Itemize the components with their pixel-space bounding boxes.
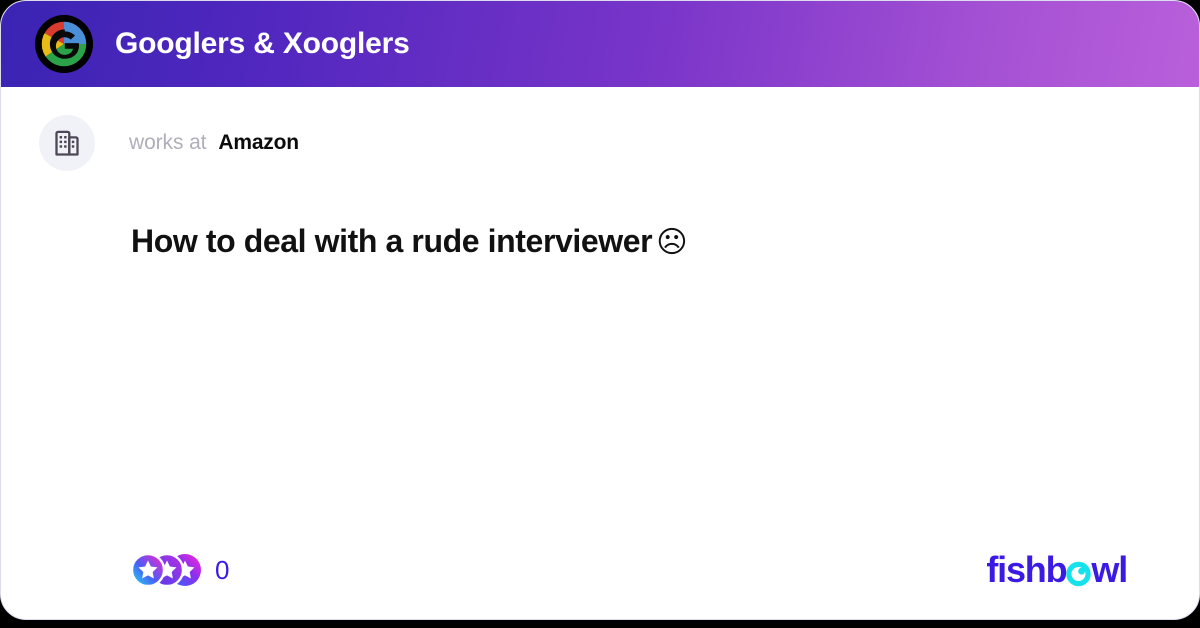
post-card: Googlers & Xooglers xyxy=(0,0,1200,620)
avatar xyxy=(39,115,95,171)
card-body: works at Amazon How to deal with a rude … xyxy=(1,87,1199,620)
group-title: Googlers & Xooglers xyxy=(115,27,410,61)
star-reaction-badges-icon[interactable] xyxy=(131,553,203,587)
card-header: Googlers & Xooglers xyxy=(1,1,1199,87)
sad-face-emoji: ☹ xyxy=(656,225,687,260)
card-footer: 0 fishb o wl xyxy=(1,547,1199,593)
office-building-icon xyxy=(51,127,83,159)
works-at-label: works at xyxy=(129,131,206,155)
reaction-count: 0 xyxy=(215,555,229,586)
brand-part-1: fishb xyxy=(986,552,1066,588)
brand-o-accent-icon: o xyxy=(1066,557,1091,583)
brand-part-2: wl xyxy=(1091,552,1127,588)
author-row[interactable]: works at Amazon xyxy=(1,87,1199,171)
fishbowl-logo: fishb o wl xyxy=(986,552,1127,588)
author-meta: works at Amazon xyxy=(129,131,299,155)
post-title-text: How to deal with a rude interviewer xyxy=(131,223,652,259)
company-name: Amazon xyxy=(218,131,298,155)
reactions-group[interactable]: 0 xyxy=(131,553,229,587)
post-title[interactable]: How to deal with a rude interviewer☹ xyxy=(131,221,1091,263)
google-g-logo-icon xyxy=(35,15,93,73)
